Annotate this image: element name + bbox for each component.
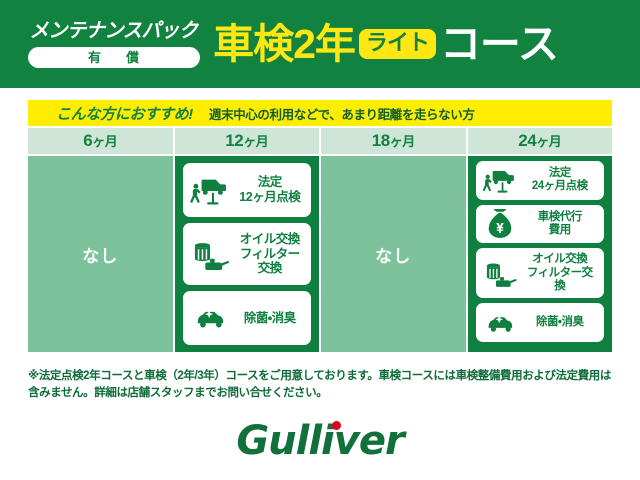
plan-column: 24ヶ月法定24ヶ月点検車検代行費用オイル交換フィルター交換除菌・消臭 <box>468 128 613 352</box>
none-label: なし <box>375 242 411 267</box>
service-card: 法定24ヶ月点検 <box>476 161 605 200</box>
plan-column-header: 6ヶ月 <box>28 128 173 154</box>
car-lift-inspection-icon <box>189 173 231 207</box>
paid-badge: 有 償 <box>28 47 200 68</box>
plan-columns: 6ヶ月なし12ヶ月法定12ヶ月点検オイル交換フィルター交換除菌・消臭18ヶ月なし… <box>28 128 612 352</box>
shaken-2year-title: 車検2年 <box>213 24 355 65</box>
header-banner: メンテナンスパック 有 償 車検2年 ライト コース <box>0 0 640 88</box>
service-card: オイル交換フィルター交換 <box>183 223 312 286</box>
service-card-label: 法定24ヶ月点検 <box>522 167 599 193</box>
service-card-label: 除菌・消臭 <box>235 311 306 325</box>
car-lift-inspection-icon <box>482 166 518 194</box>
light-badge: ライト <box>359 29 436 59</box>
money-bag-yen-icon <box>482 210 518 238</box>
service-card: 車検代行費用 <box>476 205 605 244</box>
plan-column-services: 法定12ヶ月点検オイル交換フィルター交換除菌・消臭 <box>175 156 320 352</box>
plan-column-header: 12ヶ月 <box>175 128 320 154</box>
car-sanitize-icon <box>482 309 518 337</box>
logo-wordmark: Gulliver <box>236 418 403 464</box>
brand-logo: Gulliver <box>0 418 640 464</box>
plan-column-empty-cell: なし <box>321 156 466 352</box>
recommendation-description: 週末中心の利用などで、あまり距離を走らない方 <box>209 104 474 123</box>
plan-column-header: 18ヶ月 <box>321 128 466 154</box>
recommendation-headline: こんな方におすすめ! <box>56 103 193 124</box>
service-card-label: 法定12ヶ月点検 <box>235 175 306 204</box>
service-card: オイル交換フィルター交換 <box>476 248 605 298</box>
plan-column: 18ヶ月なし <box>321 128 466 352</box>
service-card-label: オイル交換フィルター交換 <box>235 232 306 275</box>
plan-column-services: 法定24ヶ月点検車検代行費用オイル交換フィルター交換除菌・消臭 <box>468 156 613 352</box>
maintenance-pack-block: メンテナンスパック 有 償 <box>26 20 201 68</box>
plan-column: 6ヶ月なし <box>28 128 173 352</box>
service-card-label: オイル交換フィルター交換 <box>522 253 599 293</box>
plan-column: 12ヶ月法定12ヶ月点検オイル交換フィルター交換除菌・消臭 <box>175 128 320 352</box>
oil-filter-change-icon <box>189 237 231 271</box>
car-sanitize-icon <box>189 301 231 335</box>
gulliver-logo-text: Gulliver <box>236 418 403 464</box>
recommendation-bar: こんな方におすすめ! 週末中心の利用などで、あまり距離を走らない方 <box>28 100 612 126</box>
plan-table: こんな方におすすめ! 週末中心の利用などで、あまり距離を走らない方 6ヶ月なし1… <box>28 100 612 352</box>
none-label: なし <box>82 242 118 267</box>
disclaimer-note: ※法定点検2年コースと車検（2年/3年）コースをご用意しております。車検コースに… <box>28 368 616 403</box>
service-card-label: 除菌・消臭 <box>522 316 599 329</box>
service-card: 除菌・消臭 <box>183 291 312 345</box>
service-card-label: 車検代行費用 <box>522 211 599 237</box>
course-label: コース <box>440 24 558 65</box>
oil-filter-change-icon <box>482 259 518 287</box>
service-card: 法定12ヶ月点検 <box>183 163 312 217</box>
maintenance-pack-title: メンテナンスパック <box>30 20 198 42</box>
service-card: 除菌・消臭 <box>476 303 605 342</box>
plan-column-empty-cell: なし <box>28 156 173 352</box>
plan-column-header: 24ヶ月 <box>468 128 613 154</box>
